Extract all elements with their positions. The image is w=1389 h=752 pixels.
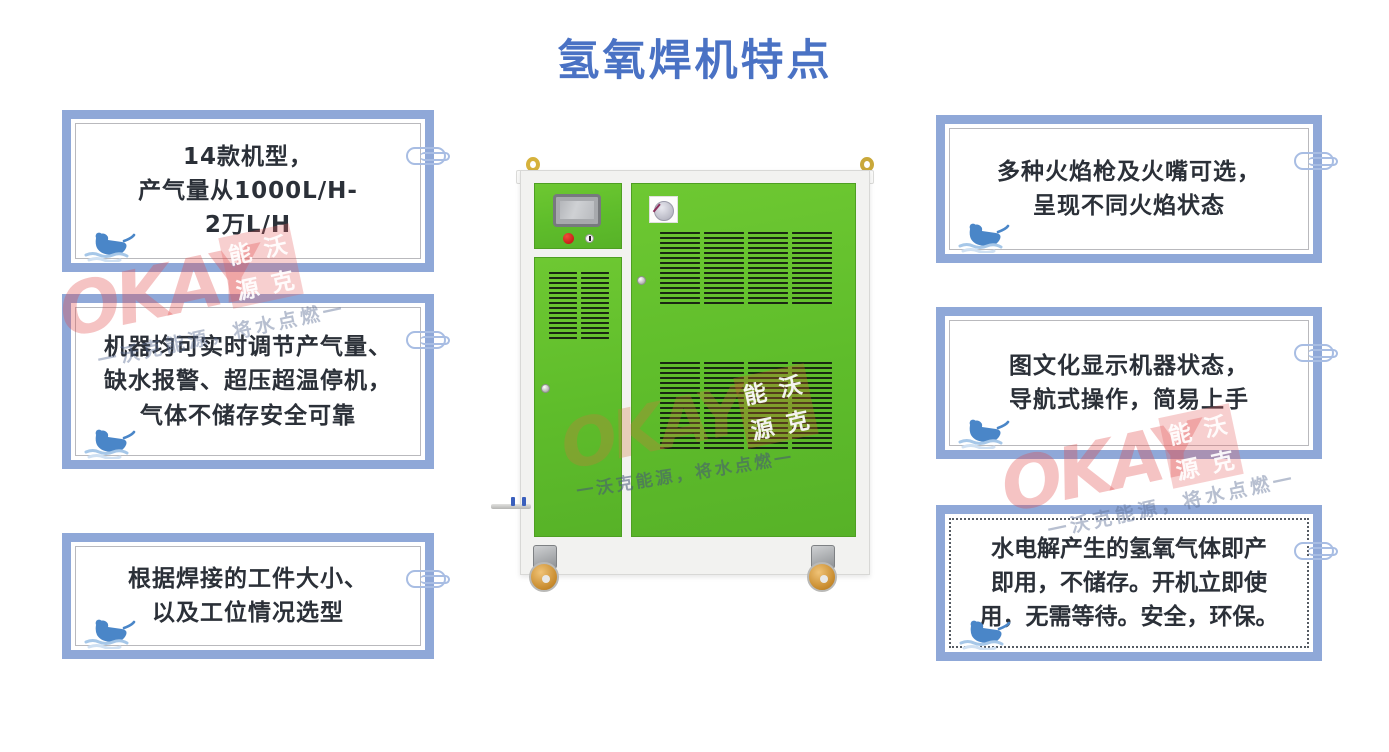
feature-box-graphic-status-display[interactable]: 图文化显示机器状态， 导航式操作，简易上手: [936, 307, 1322, 459]
ventilation-louvers-upper: [660, 232, 832, 304]
caster-wheel-left: [528, 545, 562, 593]
feature-line: 产气量从1000L/H-: [90, 174, 406, 208]
page-title: 氢氧焊机特点: [0, 38, 1389, 85]
left-cabinet-door[interactable]: [534, 257, 622, 537]
feature-line: 缺水报警、超压超温停机，: [90, 364, 406, 398]
feature-line: 2万L/H: [90, 208, 406, 242]
emergency-stop-button[interactable]: [563, 233, 574, 244]
caster-wheel-right: [806, 545, 840, 593]
feature-line: 导航式操作，简易上手: [964, 383, 1294, 417]
feature-text: 多种火焰枪及火嘴可选， 呈现不同火焰状态: [950, 155, 1308, 223]
feature-box-inner-frame: 图文化显示机器状态， 导航式操作，简易上手: [949, 320, 1309, 446]
feature-box-inner-frame: 水电解产生的氢氧气体即产 即用，不储存。开机立即使 用，无需等待。安全，环保。: [949, 518, 1309, 648]
hmi-display[interactable]: [553, 194, 601, 227]
feature-box-inner-frame: 多种火焰枪及火嘴可选， 呈现不同火焰状态: [949, 128, 1309, 250]
feature-line: 根据焊接的工件大小、: [90, 562, 406, 596]
right-cabinet-door[interactable]: [631, 183, 856, 537]
ventilation-louvers-left: [549, 272, 609, 339]
feature-text: 水电解产生的氢氧气体即产 即用，不储存。开机立即使 用，无需等待。安全，环保。: [951, 532, 1307, 634]
feature-text: 14款机型， 产气量从1000L/H- 2万L/H: [76, 140, 420, 242]
feature-line: 图文化显示机器状态，: [964, 349, 1294, 383]
pressure-gauge: [649, 196, 678, 223]
door-latch-right[interactable]: [637, 276, 646, 285]
oxyhydrogen-welding-machine: [470, 150, 930, 620]
feature-box-realtime-control-safety[interactable]: 机器均可实时调节产气量、 缺水报警、超压超温停机， 气体不储存安全可靠: [62, 294, 434, 469]
machine-cabinet: [520, 170, 870, 575]
duck-icon: [958, 415, 1012, 449]
door-latch-left[interactable]: [541, 384, 550, 393]
feature-text: 机器均可实时调节产气量、 缺水报警、超压超温停机， 气体不储存安全可靠: [76, 330, 420, 432]
selector-knob[interactable]: [585, 234, 594, 243]
feature-line: 即用，不储存。开机立即使: [965, 566, 1293, 600]
feature-box-models-capacity[interactable]: 14款机型， 产气量从1000L/H- 2万L/H: [62, 110, 434, 272]
feature-text: 根据焊接的工件大小、 以及工位情况选型: [76, 562, 420, 630]
feature-line: 气体不储存安全可靠: [90, 399, 406, 433]
feature-line: 机器均可实时调节产气量、: [90, 330, 406, 364]
feature-box-instant-generation-safety[interactable]: 水电解产生的氢氧气体即产 即用，不储存。开机立即使 用，无需等待。安全，环保。: [936, 505, 1322, 661]
feature-line: 呈现不同火焰状态: [964, 189, 1294, 223]
feature-line: 多种火焰枪及火嘴可选，: [964, 155, 1294, 189]
feature-box-inner-frame: 机器均可实时调节产气量、 缺水报警、超压超温停机， 气体不储存安全可靠: [75, 307, 421, 456]
feature-box-model-selection[interactable]: 根据焊接的工件大小、 以及工位情况选型: [62, 533, 434, 659]
water-valve-fitting: [491, 497, 533, 513]
feature-line: 以及工位情况选型: [90, 596, 406, 630]
duck-icon: [958, 219, 1012, 253]
ventilation-louvers-lower: [660, 362, 832, 449]
feature-text: 图文化显示机器状态， 导航式操作，简易上手: [950, 349, 1308, 417]
control-panel[interactable]: [534, 183, 622, 249]
feature-line: 14款机型，: [90, 140, 406, 174]
feature-box-inner-frame: 根据焊接的工件大小、 以及工位情况选型: [75, 546, 421, 646]
feature-line: 用，无需等待。安全，环保。: [965, 600, 1293, 634]
feature-line: 水电解产生的氢氧气体即产: [965, 532, 1293, 566]
feature-box-inner-frame: 14款机型， 产气量从1000L/H- 2万L/H: [75, 123, 421, 259]
feature-box-torch-nozzle-options[interactable]: 多种火焰枪及火嘴可选， 呈现不同火焰状态: [936, 115, 1322, 263]
